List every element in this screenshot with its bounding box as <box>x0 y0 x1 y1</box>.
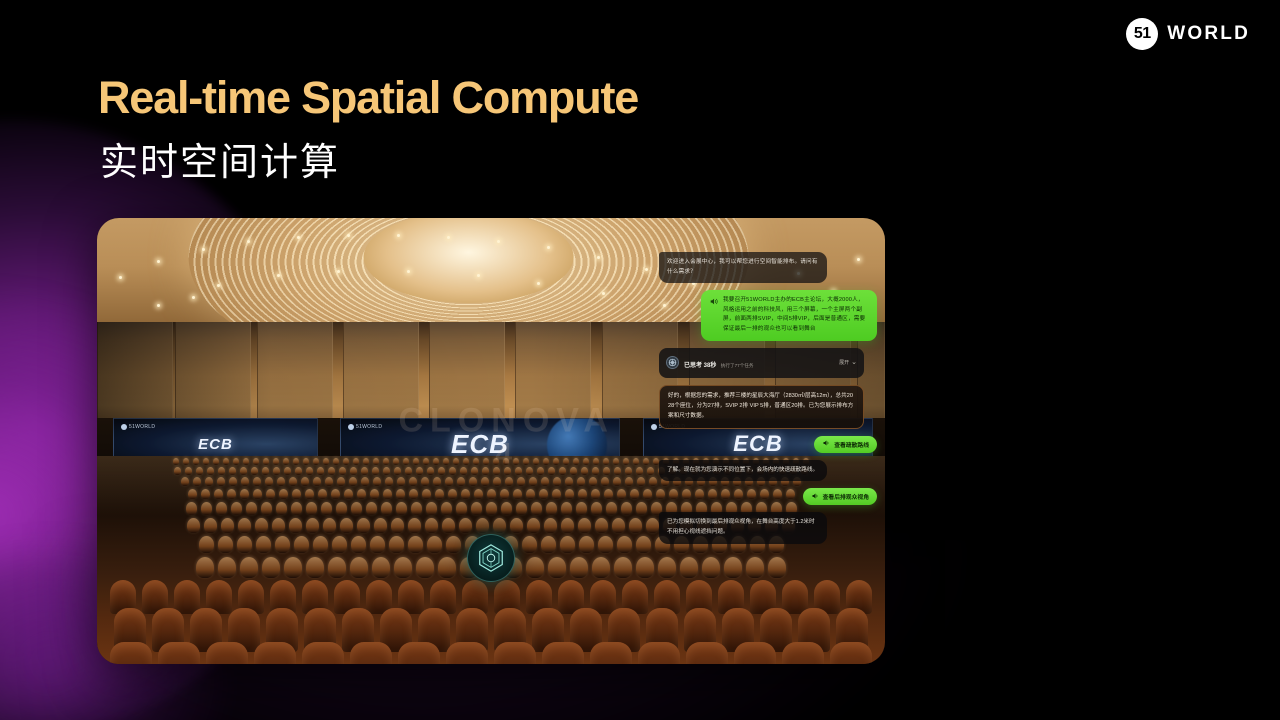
audience-head <box>306 557 324 578</box>
audience-head <box>203 458 209 465</box>
audience-head <box>303 458 309 465</box>
audience-chair <box>254 642 296 664</box>
ceiling-light <box>497 240 500 243</box>
audience-head <box>636 536 651 553</box>
audience-chair <box>734 642 776 664</box>
audience-head <box>523 458 529 465</box>
audience-head <box>658 557 676 578</box>
audience-head <box>349 477 357 486</box>
speaker-icon <box>822 439 830 449</box>
audience-head <box>214 489 223 499</box>
audience-head <box>539 489 548 499</box>
audience-head <box>649 477 657 486</box>
audience-head <box>253 458 259 465</box>
audience-head <box>493 467 500 475</box>
audience-head <box>630 489 639 499</box>
audience-head <box>581 467 588 475</box>
audience-head <box>216 502 227 515</box>
audience-head <box>746 557 764 578</box>
audience-head <box>218 557 236 578</box>
audience-head <box>306 467 313 475</box>
audience-head <box>227 489 236 499</box>
audience-head <box>546 502 557 515</box>
ceiling-light <box>247 240 250 243</box>
audience-head <box>531 502 542 515</box>
audience-head <box>603 467 610 475</box>
audience-head <box>433 458 439 465</box>
audience-head <box>340 518 353 533</box>
audience-chair <box>830 642 872 664</box>
audience-head <box>357 489 366 499</box>
audience-row <box>97 642 885 664</box>
audience-head <box>579 536 594 553</box>
audience-head <box>277 477 285 486</box>
audience-head <box>262 467 269 475</box>
speaker-icon <box>709 297 718 311</box>
audience-head <box>173 458 179 465</box>
audience-head <box>570 557 588 578</box>
audience-head <box>513 489 522 499</box>
audience-head <box>363 458 369 465</box>
action-label: 查看疏散路线 <box>834 440 869 449</box>
audience-head <box>768 557 786 578</box>
audience-head <box>273 467 280 475</box>
audience-head <box>373 458 379 465</box>
chat-bubble-assistant: 已为您模拟切换到最后排观众视角，在舞台高度大于1.2米时不用担心视线遮挡问题。 <box>659 512 827 544</box>
audience-head <box>459 518 472 533</box>
audience-chair <box>590 642 632 664</box>
audience-head <box>474 489 483 499</box>
audience-head <box>331 489 340 499</box>
audience-head <box>625 477 633 486</box>
audience-head <box>643 489 652 499</box>
screen-label-left: ECB <box>198 436 233 453</box>
audience-head <box>500 489 509 499</box>
audience-head <box>313 477 321 486</box>
speaker-icon <box>811 492 819 502</box>
audience-head <box>515 467 522 475</box>
audience-head <box>493 518 506 533</box>
chat-bubble-assistant: 了解。现在就为您演示不同位置下，会场内的快速疏散路线。 <box>659 460 827 482</box>
audience-head <box>374 518 387 533</box>
audience-head <box>328 557 346 578</box>
chat-bubble-user: 我要召开51WORLD主办的ECB主论坛，大概2000人，风格运用之前的科技风，… <box>701 290 877 340</box>
chat-row: 查看疏散路线 <box>659 436 877 453</box>
audience-head <box>273 458 279 465</box>
audience-head <box>501 502 512 515</box>
audience-head <box>313 458 319 465</box>
audience-head <box>505 477 513 486</box>
thinking-title: 已思考 38秒 <box>684 363 716 369</box>
audience-head <box>183 458 189 465</box>
ceiling-light <box>192 296 195 299</box>
audience-head <box>284 557 302 578</box>
thinking-text: 已思考 38秒 执行了77个任务 <box>684 353 834 373</box>
audience-head <box>426 502 437 515</box>
audience-head <box>592 467 599 475</box>
audience-head <box>443 458 449 465</box>
audience-head <box>393 458 399 465</box>
audience-head <box>301 477 309 486</box>
audience-head <box>504 467 511 475</box>
audience-head <box>578 518 591 533</box>
audience-head <box>595 518 608 533</box>
audience-head <box>724 557 742 578</box>
chat-row: 我要召开51WORLD主办的ECB主论坛，大概2000人，风格运用之前的科技风，… <box>659 290 877 340</box>
audience-chair <box>398 642 440 664</box>
audience-chair <box>686 642 728 664</box>
audience-head <box>461 489 470 499</box>
view-rear-audience-view-button[interactable]: 查看后排观众视角 <box>803 488 877 505</box>
action-label: 查看后排观众视角 <box>823 492 869 501</box>
screen-label-center: ECB <box>451 429 509 460</box>
audience-head <box>510 518 523 533</box>
chat-row: 了解。现在就为您演示不同位置下，会场内的快速疏散路线。 <box>659 460 877 482</box>
audience-head <box>482 467 489 475</box>
ceiling-light <box>277 274 280 277</box>
audience-head <box>553 458 559 465</box>
audience-head <box>325 477 333 486</box>
audience-head <box>416 467 423 475</box>
slide-canvas: 51 WORLD Real-time Spatial Compute 实时空间计… <box>0 0 1280 720</box>
ceiling-light <box>347 234 350 237</box>
audience-head <box>526 489 535 499</box>
audience-head <box>529 477 537 486</box>
audience-head <box>383 489 392 499</box>
audience-head <box>394 557 412 578</box>
audience-head <box>409 477 417 486</box>
screen-brand-center: 51WORLD <box>348 424 382 430</box>
audience-head <box>317 467 324 475</box>
audience-head <box>403 458 409 465</box>
audience-head <box>409 489 418 499</box>
ceiling-light <box>397 234 400 237</box>
brand-logo: 51 WORLD <box>1126 18 1250 50</box>
audience-head <box>647 467 654 475</box>
audience-head <box>493 477 501 486</box>
audience-head <box>517 477 525 486</box>
audience-head <box>433 477 441 486</box>
audience-head <box>221 518 234 533</box>
audience-chair <box>302 642 344 664</box>
audience-head <box>237 536 252 553</box>
expand-label: 展开 <box>839 359 849 366</box>
audience-head <box>613 458 619 465</box>
audience-head <box>561 502 572 515</box>
audience-head <box>328 467 335 475</box>
audience-head <box>617 536 632 553</box>
audience-head <box>565 477 573 486</box>
audience-head <box>513 458 519 465</box>
audience-head <box>397 477 405 486</box>
audience-head <box>231 502 242 515</box>
audience-head <box>702 557 720 578</box>
audience-chair <box>110 642 152 664</box>
ceiling-light <box>537 282 540 285</box>
ceiling-light <box>407 270 410 273</box>
audience-head <box>389 536 404 553</box>
audience-head <box>565 489 574 499</box>
audience-head <box>361 477 369 486</box>
audience-head <box>543 458 549 465</box>
audience-head <box>621 502 632 515</box>
audience-head <box>570 467 577 475</box>
chat-user-text: 我要召开51WORLD主办的ECB主论坛，大概2000人，风格运用之前的科技风，… <box>723 296 869 334</box>
clonova-badge <box>467 534 515 582</box>
audience-head <box>323 518 336 533</box>
ceiling-light <box>597 256 600 259</box>
audience-head <box>460 467 467 475</box>
thinking-summary[interactable]: 已思考 38秒 执行了77个任务 展开 ⌄ <box>659 348 864 378</box>
audience-head <box>583 458 589 465</box>
audience-head <box>339 467 346 475</box>
audience-head <box>591 489 600 499</box>
chat-row: 好的，根据您的需求，推荐三楼的星辰大海厅（2830㎡/层高12m），总共2028… <box>659 385 877 429</box>
brain-icon <box>666 356 679 369</box>
audience-head <box>218 536 233 553</box>
audience-head <box>187 518 200 533</box>
audience-head <box>483 458 489 465</box>
audience-head <box>246 502 257 515</box>
chat-bubble-answer: 好的，根据您的需求，推荐三楼的星辰大海厅（2830㎡/层高12m），总共2028… <box>659 385 864 429</box>
audience-head <box>240 489 249 499</box>
audience-head <box>366 502 377 515</box>
audience-head <box>633 458 639 465</box>
audience-head <box>544 518 557 533</box>
audience-head <box>238 518 251 533</box>
audience-head <box>445 477 453 486</box>
audience-head <box>448 489 457 499</box>
audience-head <box>604 489 613 499</box>
ceiling-light <box>119 276 122 279</box>
audience-head <box>255 518 268 533</box>
audience-head <box>486 502 497 515</box>
audience-head <box>603 458 609 465</box>
audience-head <box>637 477 645 486</box>
audience-head <box>560 536 575 553</box>
audience-head <box>522 536 537 553</box>
audience-head <box>351 536 366 553</box>
audience-head <box>383 467 390 475</box>
audience-head <box>306 518 319 533</box>
ceiling-light <box>477 274 480 277</box>
audience-head <box>262 557 280 578</box>
audience-chair <box>446 642 488 664</box>
brand-name: WORLD <box>1167 23 1250 45</box>
audience-head <box>576 502 587 515</box>
audience-head <box>321 502 332 515</box>
audience-head <box>370 489 379 499</box>
audience-head <box>481 477 489 486</box>
audience-head <box>233 458 239 465</box>
audience-head <box>578 489 587 499</box>
audience-head <box>323 458 329 465</box>
audience-head <box>552 489 561 499</box>
audience-head <box>181 477 189 486</box>
audience-head <box>223 458 229 465</box>
audience-head <box>442 518 455 533</box>
audience-head <box>332 536 347 553</box>
audience-head <box>636 557 654 578</box>
audience-head <box>350 557 368 578</box>
audience-head <box>193 477 201 486</box>
audience-head <box>449 467 456 475</box>
audience-head <box>473 458 479 465</box>
audience-head <box>614 467 621 475</box>
audience-head <box>613 477 621 486</box>
ceiling-light <box>602 292 605 295</box>
audience-head <box>263 458 269 465</box>
audience-head <box>427 536 442 553</box>
audience-head <box>592 557 610 578</box>
audience-head <box>408 518 421 533</box>
chat-row: 已为您模拟切换到最后排观众视角，在舞台高度大于1.2米时不用担心视线遮挡问题。 <box>659 512 877 544</box>
audience-chair <box>494 642 536 664</box>
audience-head <box>188 489 197 499</box>
audience-head <box>396 502 407 515</box>
audience-chair <box>350 642 392 664</box>
audience-head <box>411 502 422 515</box>
audience-head <box>201 502 212 515</box>
ceiling-light <box>547 246 550 249</box>
audience-head <box>350 467 357 475</box>
audience-head <box>541 477 549 486</box>
audience-head <box>413 458 419 465</box>
thinking-subtitle: 执行了77个任务 <box>721 363 754 368</box>
audience-head <box>199 536 214 553</box>
audience-head <box>425 518 438 533</box>
audience-head <box>617 489 626 499</box>
audience-head <box>241 477 249 486</box>
ceiling-light <box>447 236 450 239</box>
audience-head <box>185 467 192 475</box>
audience-head <box>284 467 291 475</box>
venue-media-panel: 51WORLD ECB 51WORLD ECB 51WORLD ECB CLON… <box>97 218 885 664</box>
audience-head <box>503 458 509 465</box>
audience-chair <box>542 642 584 664</box>
audience-head <box>279 489 288 499</box>
audience-head <box>469 477 477 486</box>
audience-head <box>614 557 632 578</box>
audience-head <box>305 489 314 499</box>
audience-head <box>541 536 556 553</box>
audience-head <box>291 502 302 515</box>
audience-head <box>205 477 213 486</box>
page-title-en: Real-time Spatial Compute <box>98 72 638 124</box>
page-title-cn: 实时空间计算 <box>100 131 340 186</box>
audience-head <box>427 467 434 475</box>
audience-head <box>344 489 353 499</box>
audience-head <box>207 467 214 475</box>
audience-head <box>396 489 405 499</box>
audience-head <box>201 489 210 499</box>
audience-head <box>680 557 698 578</box>
audience-head <box>265 477 273 486</box>
audience-head <box>623 458 629 465</box>
audience-head <box>416 557 434 578</box>
audience-head <box>343 458 349 465</box>
audience-chair <box>158 642 200 664</box>
audience-head <box>471 502 482 515</box>
audience-head <box>272 518 285 533</box>
ceiling-light <box>297 236 300 239</box>
audience-head <box>646 518 659 533</box>
chat-overlay: 欢迎进入会展中心，我可以帮您进行空间智能排布。请问有什么需求？ 我要召开51WO… <box>659 252 877 544</box>
audience-head <box>357 518 370 533</box>
audience-head <box>240 467 247 475</box>
audience-head <box>591 502 602 515</box>
audience-head <box>563 458 569 465</box>
audience-head <box>435 489 444 499</box>
audience-head <box>373 477 381 486</box>
audience-head <box>294 536 309 553</box>
audience-head <box>533 458 539 465</box>
audience-head <box>625 467 632 475</box>
chat-bubble-assistant: 欢迎进入会展中心，我可以帮您进行空间智能排布。请问有什么需求？ <box>659 252 827 283</box>
ceiling-light <box>157 260 160 263</box>
audience-head <box>218 467 225 475</box>
audience-head <box>471 467 478 475</box>
audience-head <box>243 458 249 465</box>
audience-head <box>266 489 275 499</box>
audience-head <box>276 502 287 515</box>
audience-head <box>476 518 489 533</box>
view-evacuation-route-button[interactable]: 查看疏散路线 <box>814 436 877 453</box>
audience-head <box>292 489 301 499</box>
audience-head <box>456 502 467 515</box>
audience-chair <box>782 642 824 664</box>
audience-head <box>217 477 225 486</box>
audience-head <box>408 536 423 553</box>
audience-head <box>438 557 456 578</box>
audience-head <box>391 518 404 533</box>
audience-head <box>196 557 214 578</box>
audience-head <box>643 458 649 465</box>
audience-head <box>573 458 579 465</box>
audience-head <box>289 518 302 533</box>
audience-head <box>598 536 613 553</box>
audience-head <box>423 458 429 465</box>
audience-head <box>553 477 561 486</box>
audience-head <box>526 557 544 578</box>
audience-head <box>577 477 585 486</box>
expand-toggle[interactable]: 展开 ⌄ <box>839 359 857 366</box>
audience-head <box>336 502 347 515</box>
chat-row: 欢迎进入会展中心，我可以帮您进行空间智能排布。请问有什么需求？ <box>659 252 877 283</box>
audience-head <box>295 467 302 475</box>
audience-head <box>174 467 181 475</box>
ceiling-light <box>337 270 340 273</box>
audience-head <box>493 458 499 465</box>
audience-head <box>438 467 445 475</box>
audience-head <box>559 467 566 475</box>
audience-head <box>253 477 261 486</box>
audience-head <box>421 477 429 486</box>
audience-head <box>548 557 566 578</box>
audience-head <box>612 518 625 533</box>
chat-row: 查看后排观众视角 <box>659 488 877 505</box>
audience-head <box>381 502 392 515</box>
ceiling-light <box>217 284 220 287</box>
audience-head <box>441 502 452 515</box>
brand-mark-icon: 51 <box>1126 18 1158 50</box>
audience-head <box>361 467 368 475</box>
screen-brand-left: 51WORLD <box>121 424 155 430</box>
audience-head <box>548 467 555 475</box>
audience-head <box>251 467 258 475</box>
audience-head <box>516 502 527 515</box>
chat-row: 已思考 38秒 执行了77个任务 展开 ⌄ <box>659 348 877 378</box>
